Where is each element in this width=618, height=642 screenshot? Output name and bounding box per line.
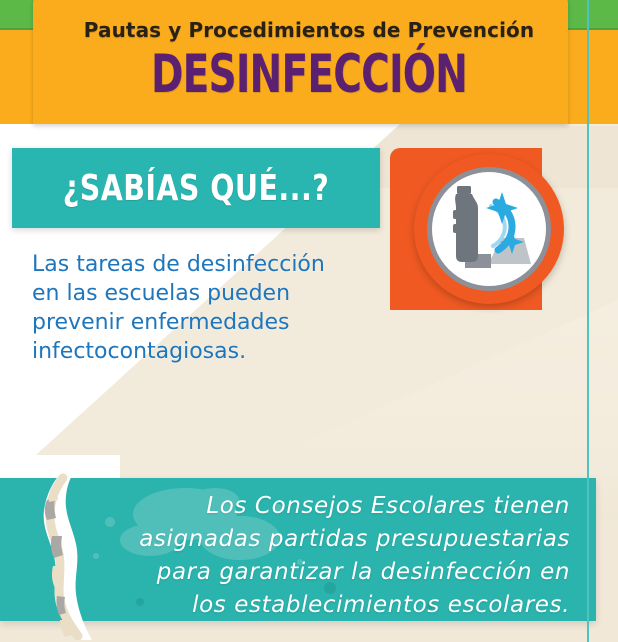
lead-paragraph: Las tareas de desinfección en las escuel… — [32, 250, 372, 366]
infographic-canvas: Pautas y Procedimientos de Prevención DE… — [0, 0, 618, 642]
did-you-know-banner: ¿SABÍAS QUÉ...? — [12, 148, 380, 228]
header-kicker: Pautas y Procedimientos de Prevención — [0, 18, 618, 42]
lead-line-1: Las tareas de desinfección — [32, 250, 372, 279]
icon-circle-white-disc — [432, 172, 546, 286]
spray-bottle-cleaning-icon — [432, 172, 546, 286]
bottom-line-4: los establecimientos escolares. — [130, 589, 570, 622]
vertical-teal-rule — [587, 0, 589, 642]
header-bleed-right — [562, 30, 618, 124]
bottom-line-3: para garantizar la desinfección en — [130, 556, 570, 589]
lead-line-4: infectocontagiosas. — [32, 337, 372, 366]
bottom-line-2: asignadas partidas presupuestarias — [130, 523, 570, 556]
did-you-know-label: ¿SABÍAS QUÉ...? — [34, 148, 358, 228]
bottom-statement: Los Consejos Escolares tienen asignadas … — [130, 490, 570, 622]
icon-panel — [390, 148, 570, 310]
bottom-line-1: Los Consejos Escolares tienen — [130, 490, 570, 523]
torn-map-strip — [0, 470, 132, 642]
lead-line-2: en las escuelas pueden — [32, 279, 372, 308]
lead-line-3: prevenir enfermedades — [32, 308, 372, 337]
page-title: DESINFECCIÓN — [56, 46, 563, 104]
